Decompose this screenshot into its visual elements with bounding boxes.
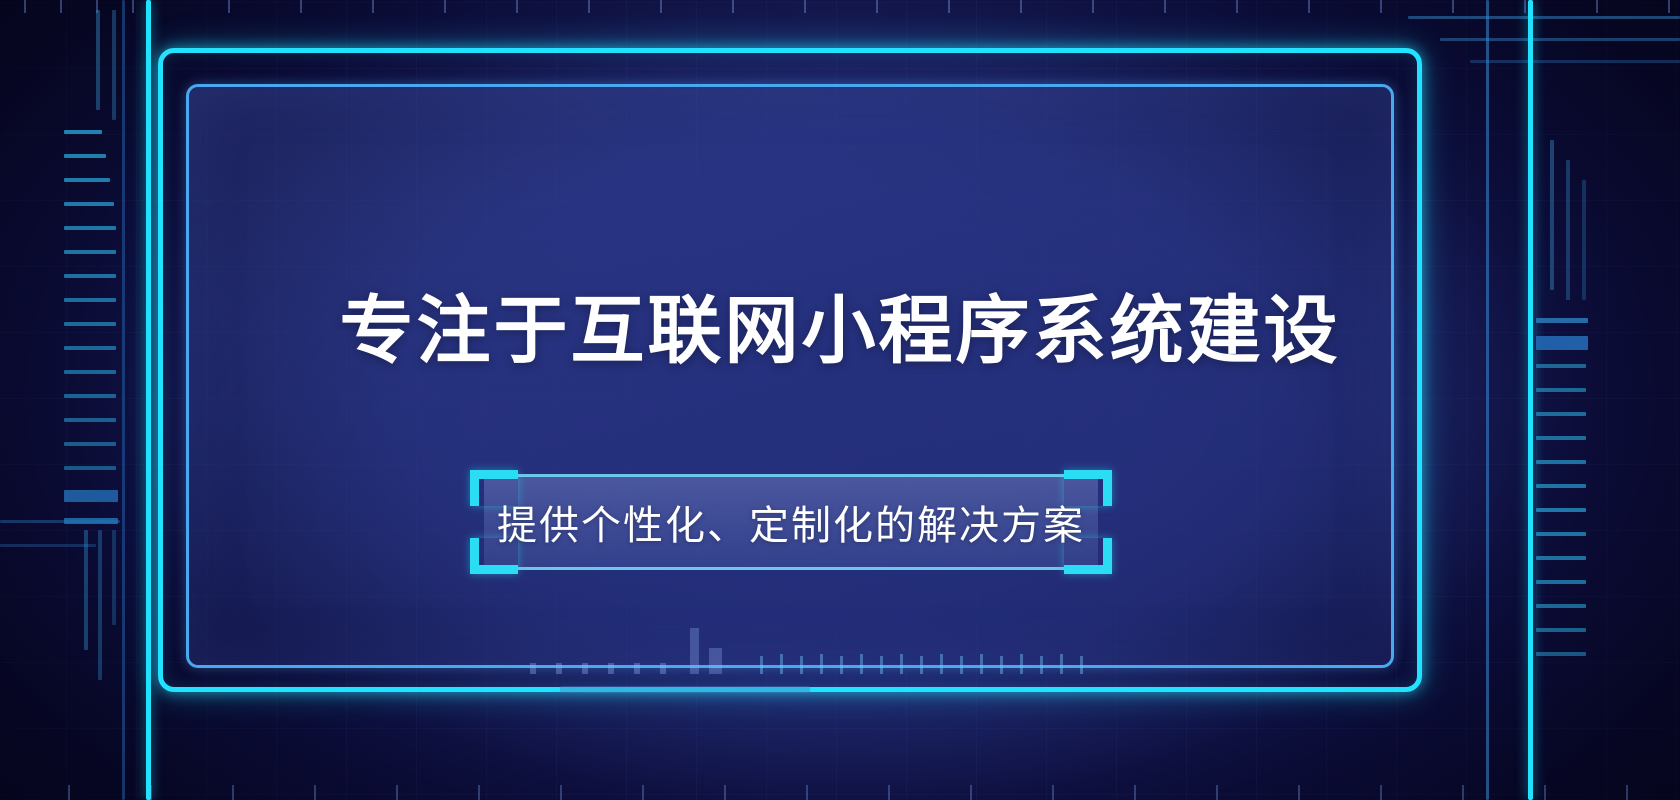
decor-dot-row (530, 662, 680, 674)
top-left-vertical-bars (96, 10, 156, 120)
decor-mini-bars (690, 628, 750, 674)
inner-frame-panel (186, 84, 1394, 668)
left-edge-tick-marks (64, 130, 144, 690)
page-title: 专注于互联网小程序系统建设 (0, 292, 1680, 370)
top-edge-tick-marks (0, 0, 1680, 20)
bottom-mini-bar-chart (530, 628, 1090, 674)
right-edge-tick-marks (1536, 140, 1616, 760)
right-edge-secondary-line (1486, 0, 1489, 800)
decor-comb-ticks (760, 654, 1090, 674)
decor-underline-bar (560, 686, 810, 693)
bottom-edge-tick-marks (0, 780, 1680, 800)
accent-hline-right-3 (1470, 60, 1680, 63)
accent-hline-right-2 (1440, 38, 1680, 41)
left-edge-glow-line (146, 0, 151, 800)
subtitle-bracket-box: 提供个性化、定制化的解决方案 (470, 470, 1112, 574)
banner-canvas: 专注于互联网小程序系统建设 提供个性化、定制化的解决方案 (0, 0, 1680, 800)
page-subtitle: 提供个性化、定制化的解决方案 (470, 470, 1112, 574)
right-edge-glow-line (1528, 0, 1533, 800)
